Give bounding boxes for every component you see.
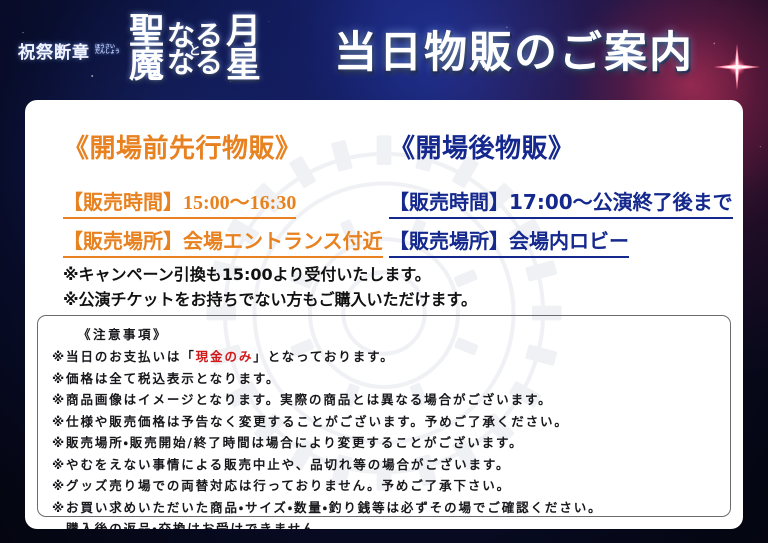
logo-kanji-bottom: 魔 [129,50,164,84]
logo-kanji-column: 聖 魔 [129,16,164,83]
sales-place-row: 【販売場所】会場エントランス付近 【販売場所】会場内ロビー [25,225,743,258]
caution-line-item: ※価格は全て税込表示となります。 [52,368,716,390]
pre-sales-place-label: 【販売場所】 [63,229,183,253]
logo-kanji-top: 聖 [129,16,164,50]
pre-sales-place: 【販売場所】会場エントランス付近 [63,225,383,258]
logo-tail-bottom: 星 [226,50,261,84]
logo-kana-wrap: なる なる と [167,23,223,77]
logo-kana-mid: と [189,42,201,59]
post-sales-place-label: 【販売場所】 [389,229,509,253]
series-ruby-bottom: だんしょう [95,50,120,55]
series-logo-main: 聖 魔 なる なる と 月 星 [129,16,261,83]
poster-header: 祝祭断章 ほうさい だんしょう 聖 魔 なる なる と 月 [0,0,768,100]
caution-line-item: ※お買い求めいただいた商品・サイズ・数量・釣り銭等は必ずその場でご確認ください。 [52,497,716,519]
page-title: 当日物販のご案内 [334,18,694,80]
general-notes: ※キャンペーン引換も15:00より受付いたします。 ※公演チケットをお持ちでない… [63,263,477,313]
caution-line-item: ※やむをえない事情による販売中止や、品切れ等の場合がございます。 [52,454,716,476]
sales-time-row: 【販売時間】15:00〜16:30 【販売時間】17:00〜公演終了後まで [25,186,743,219]
post-sales-time-label: 【販売時間】 [389,190,509,214]
section-headings-row: 《開場前先行物販》 《開場後物販》 [25,128,743,165]
caution-line-item: ※商品画像はイメージとなります。実際の商品とは異なる場合がございます。 [52,389,716,411]
caution-line-item: ※グッズ売り場での両替対応は行っておりません。予めご了承下さい。 [52,475,716,497]
general-note-2: ※公演チケットをお持ちでない方もご購入いただけます。 [63,288,477,313]
series-subtitle: 祝祭断章 [18,38,90,63]
sparkle-star-icon [714,44,760,90]
caution-line-item: ※販売場所・販売開始/終了時間は場合により変更することがございます。 [52,432,716,454]
content-panel: 《開場前先行物販》 《開場後物販》 【販売時間】15:00〜16:30 【販売時… [25,100,743,529]
post-sales-time: 【販売時間】17:00〜公演終了後まで [389,186,733,219]
series-logo: 祝祭断章 ほうさい だんしょう 聖 魔 なる なる と 月 [18,8,261,92]
caution-line-item: ※仕様や販売価格は予告なく変更することがございます。予めご了承ください。 [52,411,716,433]
logo-tail-column: 月 星 [226,16,261,83]
caution-line-payment: ※当日のお支払いは「現金のみ」となっております。 [52,346,716,368]
general-note-1: ※キャンペーン引換も15:00より受付いたします。 [63,263,477,288]
caution-line-last: 購入後の返品・交換はお受けできません。 [52,518,716,529]
pre-sales-time-label: 【販売時間】 [63,190,183,214]
series-ruby: ほうさい だんしょう [95,33,120,67]
logo-tail-top: 月 [226,16,261,50]
section-heading-post-open: 《開場後物販》 [389,134,575,164]
pre-sales-place-value: 会場エントランス付近 [183,229,383,253]
pre-sales-time-value: 15:00〜16:30 [183,192,296,214]
post-sales-time-value: 17:00〜公演終了後まで [509,190,733,214]
caution-title: 《注意事項》 [52,324,716,343]
pre-sales-time: 【販売時間】15:00〜16:30 [63,186,296,219]
caution-payment-pre: ※当日のお支払いは「 [52,349,196,364]
caution-payment-post: 」となっております。 [253,349,394,364]
poster-root: 祝祭断章 ほうさい だんしょう 聖 魔 なる なる と 月 [0,0,768,543]
caution-box: 《注意事項》 ※当日のお支払いは「現金のみ」となっております。 ※価格は全て税込… [37,315,731,517]
section-heading-pre-show: 《開場前先行物販》 [63,134,302,164]
post-sales-place-value: 会場内ロビー [509,229,629,253]
caution-payment-highlight: 現金のみ [196,349,254,364]
post-sales-place: 【販売場所】会場内ロビー [389,225,629,258]
